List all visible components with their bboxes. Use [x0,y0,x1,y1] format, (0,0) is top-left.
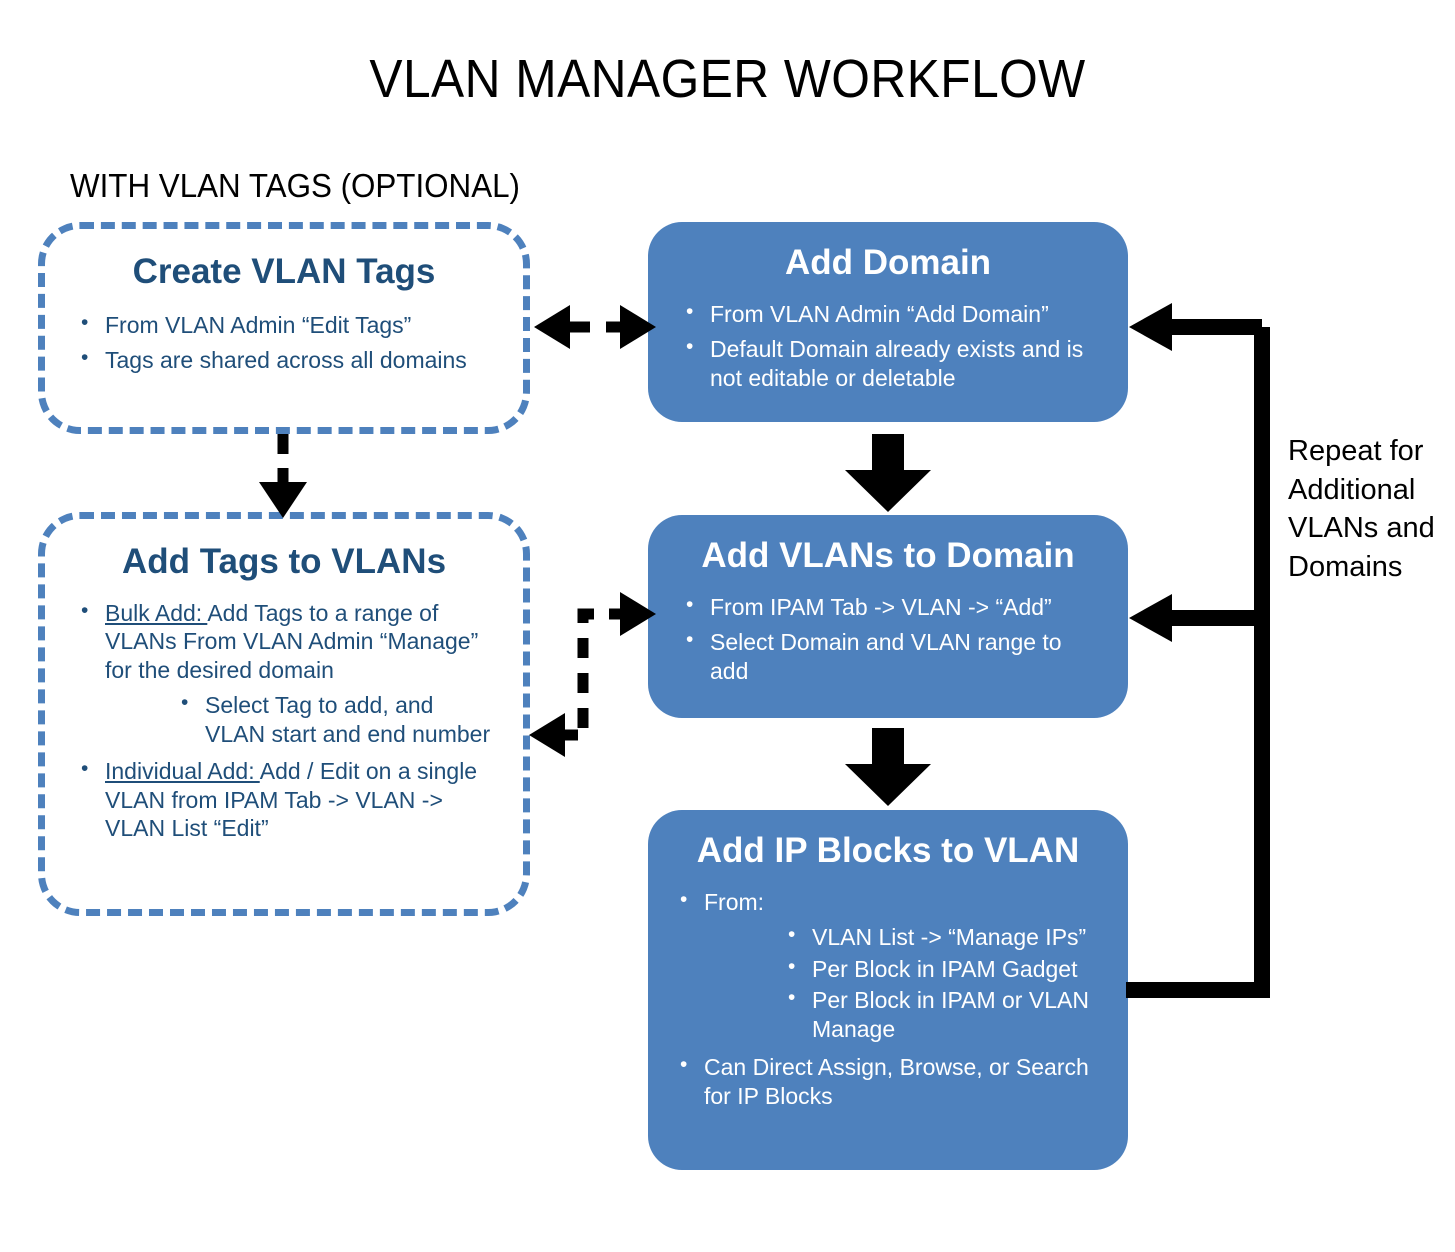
add-tags-to-vlans-bullets: Bulk Add: Add Tags to a range of VLANs F… [75,599,497,843]
arrow-create-tags-to-add-tags [259,434,307,518]
add-domain-bullets: From VLAN Admin “Add Domain” Default Dom… [680,300,1104,393]
optional-box-create-vlan-tags: Create VLAN Tags From VLAN Admin “Edit T… [38,222,530,434]
bulk-add-sub-bullets: Select Tag to add, and VLAN start and en… [175,691,497,748]
arrow-repeat-loop [1126,303,1262,998]
arrow-add-tags-vlans-loop [529,592,656,757]
list-item: From VLAN Admin “Edit Tags” [75,311,497,340]
optional-section-label: WITH VLAN TAGS (OPTIONAL) [70,167,520,205]
list-item: Individual Add: Add / Edit on a single V… [75,757,497,843]
list-item: Select Tag to add, and VLAN start and en… [175,691,497,748]
add-ip-blocks-sub-bullets: VLAN List -> “Manage IPs” Per Block in I… [782,923,1104,1043]
list-item: Can Direct Assign, Browse, or Search for… [674,1053,1104,1110]
add-tags-to-vlans-heading: Add Tags to VLANs [45,543,523,581]
list-item: Per Block in IPAM or VLAN Manage [782,986,1104,1043]
list-item: VLAN List -> “Manage IPs” [782,923,1104,952]
flow-box-add-vlans-to-domain: Add VLANs to Domain From IPAM Tab -> VLA… [648,515,1128,718]
add-domain-heading: Add Domain [648,244,1128,282]
individual-add-label: Individual Add: [105,758,260,784]
repeat-loop-label: Repeat for Additional VLANs and Domains [1288,432,1455,586]
list-item: Default Domain already exists and is not… [680,335,1104,392]
list-item: Tags are shared across all domains [75,346,497,375]
create-vlan-tags-heading: Create VLAN Tags [45,253,523,291]
list-item: From VLAN Admin “Add Domain” [680,300,1104,329]
list-item: Select Domain and VLAN range to add [680,628,1104,685]
arrow-add-domain-to-add-vlans [845,434,931,512]
list-item: From IPAM Tab -> VLAN -> “Add” [680,593,1104,622]
add-vlans-heading: Add VLANs to Domain [648,537,1128,575]
list-item: From: [674,888,1104,917]
arrow-add-vlans-to-add-ip-blocks [845,728,931,806]
add-vlans-bullets: From IPAM Tab -> VLAN -> “Add” Select Do… [680,593,1104,686]
list-item: Per Block in IPAM Gadget [782,955,1104,984]
page-title: VLAN MANAGER WORKFLOW [58,48,1397,110]
flow-box-add-ip-blocks-to-vlan: Add IP Blocks to VLAN From: VLAN List ->… [648,810,1128,1170]
flow-box-add-domain: Add Domain From VLAN Admin “Add Domain” … [648,222,1128,422]
create-vlan-tags-bullets: From VLAN Admin “Edit Tags” Tags are sha… [75,311,497,375]
optional-box-add-tags-to-vlans: Add Tags to VLANs Bulk Add: Add Tags to … [38,512,530,916]
bulk-add-label: Bulk Add: [105,600,207,626]
add-ip-blocks-bullets: From: VLAN List -> “Manage IPs” Per Bloc… [674,888,1104,1111]
list-item: Bulk Add: Add Tags to a range of VLANs F… [75,599,497,685]
arrow-tags-to-domain-bidirectional [534,305,656,349]
workflow-diagram: VLAN MANAGER WORKFLOW WITH VLAN TAGS (OP… [0,0,1455,1252]
add-ip-blocks-heading: Add IP Blocks to VLAN [648,832,1128,870]
